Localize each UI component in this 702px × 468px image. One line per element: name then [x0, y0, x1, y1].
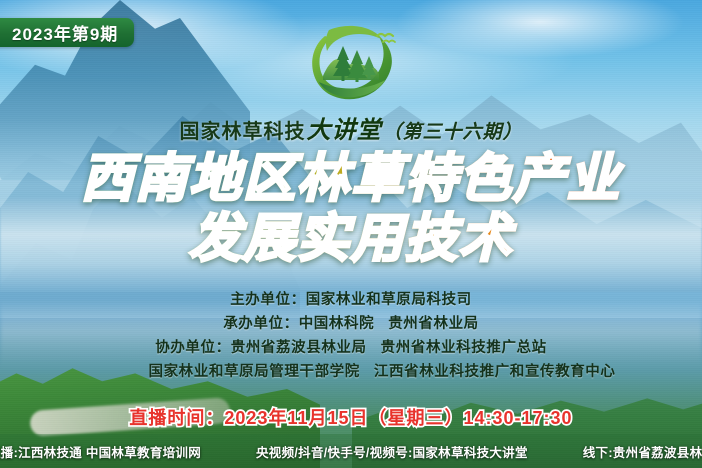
organizer-block: 主办单位：国家林业和草原局科技司 承办单位：中国林科院贵州省林业局 协办单位：贵…: [0, 288, 702, 384]
live-time-range: 14:30-17:30: [464, 408, 573, 428]
organizer-row-coorganizer: 协办单位：贵州省荔波县林业局贵州省林业科技推广总站: [0, 336, 702, 360]
logo-container: [0, 20, 702, 106]
coorganizer-value-2: 贵州省林业科技推广总站: [381, 340, 547, 356]
title-line-1: 西南地区林草特色产业: [0, 152, 702, 208]
live-time-label: 直播时间：: [129, 408, 224, 428]
live-time-line: 直播时间：2023年11月15日（星期三）14:30-17:30: [0, 404, 702, 430]
subbrand-emphasis: 大讲堂: [306, 117, 381, 144]
undertaker-label: 承办单位：: [223, 316, 299, 332]
subbrand-line: 国家林草科技大讲堂（第三十六期）: [0, 110, 702, 145]
subbrand-prefix: 国家林草科技: [179, 121, 305, 143]
coorganizer-label: 协办单位：: [155, 340, 231, 356]
organizer-row-coorganizer-cont: 国家林业和草原局管理干部学院江西省林业科技推广和宣传教育中心: [0, 360, 702, 384]
host-label: 主办单位：: [230, 292, 306, 308]
channel-bar: 直播:江西林技通 中国林草教育培训网 央视频/抖音/快手号/视频号:国家林草科技…: [0, 434, 702, 468]
coorganizer-value-3: 国家林业和草原局管理干部学院: [148, 364, 359, 380]
coorganizer-value-1: 贵州省荔波县林业局: [231, 340, 367, 356]
subbrand-issue: （第三十六期）: [382, 122, 522, 143]
poster-canvas: 2023年第9期: [0, 0, 702, 468]
main-title: 西南地区林草特色产业 发展实用技术: [0, 152, 702, 268]
channel-center: 央视频/抖音/快手号/视频号:国家林草科技大讲堂: [256, 442, 528, 461]
organizer-row-host: 主办单位：国家林业和草原局科技司: [0, 288, 702, 312]
organizer-row-undertaker: 承办单位：中国林科院贵州省林业局: [0, 312, 702, 336]
channel-left: 直播:江西林技通 中国林草教育培训网: [0, 442, 201, 461]
live-time-date: 2023年11月15日（星期三）: [224, 408, 463, 428]
coorganizer-value-4: 江西省林业科技推广和宣传教育中心: [374, 364, 616, 380]
title-line-2: 发展实用技术: [0, 212, 702, 268]
undertaker-value-1: 中国林科院: [299, 316, 375, 332]
forest-grassland-emblem-icon: [299, 20, 403, 106]
channel-right: 线下:贵州省荔波县林业局: [583, 442, 702, 461]
host-value: 国家林业和草原局科技司: [306, 292, 472, 308]
undertaker-value-2: 贵州省林业局: [388, 316, 479, 332]
